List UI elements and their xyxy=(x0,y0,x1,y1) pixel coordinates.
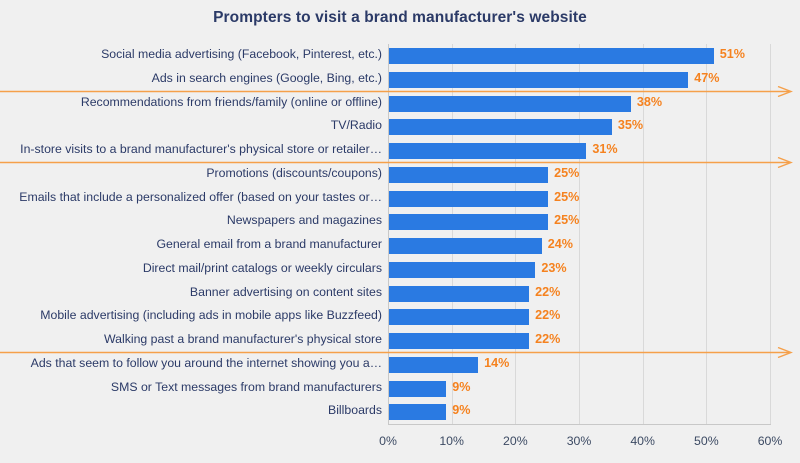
bar-row: Mobile advertising (including ads in mob… xyxy=(0,305,800,329)
category-label: Direct mail/print catalogs or weekly cir… xyxy=(0,261,382,275)
bar xyxy=(389,214,548,230)
category-label: Mobile advertising (including ads in mob… xyxy=(0,308,382,322)
category-label: Banner advertising on content sites xyxy=(0,285,382,299)
bar-row: General email from a brand manufacturer2… xyxy=(0,234,800,258)
bar-row: Newspapers and magazines25% xyxy=(0,210,800,234)
bar xyxy=(389,238,542,254)
bar-value-label: 23% xyxy=(541,261,566,275)
chart-title: Prompters to visit a brand manufacturer'… xyxy=(0,9,800,27)
bar xyxy=(389,309,529,325)
bar-value-label: 31% xyxy=(592,142,617,156)
bar xyxy=(389,262,535,278)
bar-rows: Social media advertising (Facebook, Pint… xyxy=(0,44,800,424)
bar xyxy=(389,48,714,64)
bar-row: In-store visits to a brand manufacturer'… xyxy=(0,139,800,163)
bar-chart: Prompters to visit a brand manufacturer'… xyxy=(0,0,800,463)
x-axis-tick-label: 0% xyxy=(379,434,397,448)
category-label: TV/Radio xyxy=(0,118,382,132)
category-label: General email from a brand manufacturer xyxy=(0,237,382,251)
x-axis: 0%10%20%30%40%50%60% xyxy=(388,428,770,452)
bar-row: Social media advertising (Facebook, Pint… xyxy=(0,44,800,68)
bar-row: Direct mail/print catalogs or weekly cir… xyxy=(0,258,800,282)
bar-value-label: 25% xyxy=(554,190,579,204)
bar-value-label: 35% xyxy=(618,118,643,132)
bar xyxy=(389,333,529,349)
bar xyxy=(389,381,446,397)
bar-row: Emails that include a personalized offer… xyxy=(0,187,800,211)
x-axis-tick-label: 50% xyxy=(694,434,719,448)
x-axis-tick-label: 30% xyxy=(567,434,592,448)
category-label: Walking past a brand manufacturer's phys… xyxy=(0,332,382,346)
bar-value-label: 25% xyxy=(554,166,579,180)
bar xyxy=(389,119,612,135)
x-axis-tick-label: 40% xyxy=(630,434,655,448)
category-label: Ads in search engines (Google, Bing, etc… xyxy=(0,71,382,85)
bar-value-label: 24% xyxy=(548,237,573,251)
bar-row: Recommendations from friends/family (onl… xyxy=(0,92,800,116)
category-label: In-store visits to a brand manufacturer'… xyxy=(0,142,382,156)
bar xyxy=(389,404,446,420)
bar xyxy=(389,191,548,207)
category-label: Billboards xyxy=(0,403,382,417)
bar-row: TV/Radio35% xyxy=(0,115,800,139)
category-label: Recommendations from friends/family (onl… xyxy=(0,95,382,109)
bar-value-label: 22% xyxy=(535,285,560,299)
category-label: SMS or Text messages from brand manufact… xyxy=(0,380,382,394)
bar-value-label: 38% xyxy=(637,95,662,109)
bar xyxy=(389,167,548,183)
bar xyxy=(389,96,631,112)
bar-value-label: 22% xyxy=(535,332,560,346)
bar xyxy=(389,357,478,373)
x-axis-baseline xyxy=(388,424,771,425)
bar-value-label: 51% xyxy=(720,47,745,61)
x-axis-tick-label: 10% xyxy=(439,434,464,448)
category-label: Social media advertising (Facebook, Pint… xyxy=(0,47,382,61)
bar-row: Promotions (discounts/coupons)25% xyxy=(0,163,800,187)
x-axis-tick-label: 60% xyxy=(758,434,783,448)
bar xyxy=(389,72,688,88)
bar-row: Ads that seem to follow you around the i… xyxy=(0,353,800,377)
category-label: Promotions (discounts/coupons) xyxy=(0,166,382,180)
x-axis-tick-label: 20% xyxy=(503,434,528,448)
bar xyxy=(389,143,586,159)
category-label: Emails that include a personalized offer… xyxy=(0,190,382,204)
bar-value-label: 25% xyxy=(554,213,579,227)
bar-row: Billboards9% xyxy=(0,400,800,424)
bar-row: Banner advertising on content sites22% xyxy=(0,282,800,306)
bar-value-label: 22% xyxy=(535,308,560,322)
bar-value-label: 14% xyxy=(484,356,509,370)
category-label: Newspapers and magazines xyxy=(0,213,382,227)
bar-value-label: 9% xyxy=(452,403,470,417)
bar-value-label: 9% xyxy=(452,380,470,394)
bar-row: Walking past a brand manufacturer's phys… xyxy=(0,329,800,353)
bar xyxy=(389,286,529,302)
bar-row: SMS or Text messages from brand manufact… xyxy=(0,377,800,401)
bar-value-label: 47% xyxy=(694,71,719,85)
category-label: Ads that seem to follow you around the i… xyxy=(0,356,382,370)
bar-row: Ads in search engines (Google, Bing, etc… xyxy=(0,68,800,92)
